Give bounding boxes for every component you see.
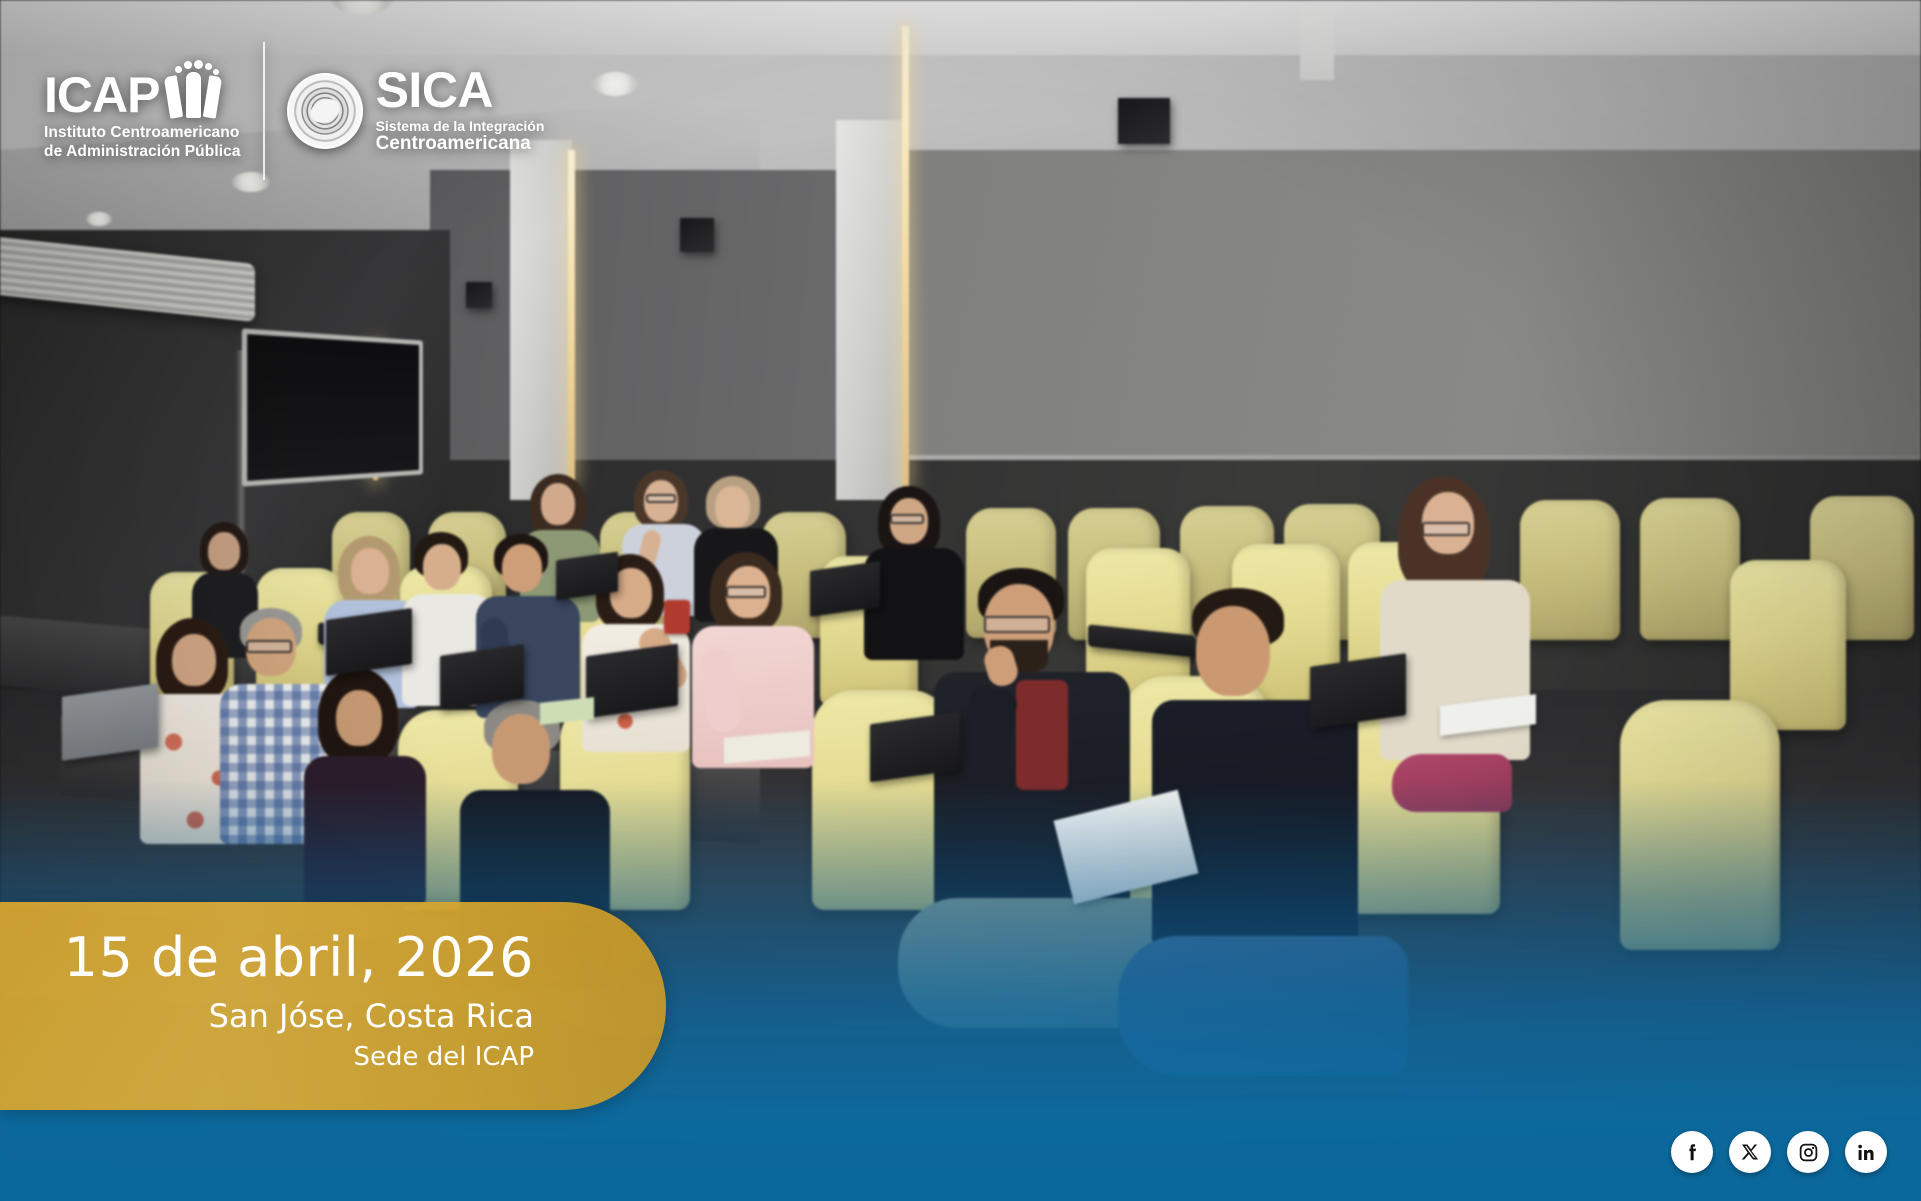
smartphone: [664, 600, 690, 634]
eyeglasses-icon: [726, 586, 766, 598]
icap-wordmark: ICAP: [44, 72, 159, 118]
icap-subtitle-line-2: de Administración Pública: [44, 143, 241, 162]
ceiling-light: [86, 212, 112, 226]
wall-speaker: [466, 282, 492, 308]
head: [715, 486, 750, 528]
event-date: 15 de abril, 2026: [64, 930, 534, 987]
vertical-divider-icon: [263, 42, 265, 180]
event-venue: Sede del ICAP: [353, 1042, 534, 1073]
x-twitter-icon[interactable]: [1729, 1131, 1771, 1173]
wall-column: [510, 140, 572, 500]
icap-logo: ICAP Instituto Centroamericano de Admini…: [44, 60, 241, 162]
auditorium-seat: [1520, 500, 1620, 640]
head: [423, 544, 461, 590]
eyeglasses-icon: [984, 616, 1050, 633]
laptop: [810, 561, 880, 617]
led-accent-strip: [568, 150, 575, 480]
acoustic-felt-wall: [860, 150, 1921, 490]
led-accent-strip: [902, 26, 909, 486]
laptop: [586, 644, 678, 719]
torso: [304, 756, 426, 906]
event-date-banner: 15 de abril, 2026 San Jóse, Costa Rica S…: [0, 902, 666, 1110]
promo-banner-stage: ICAP Instituto Centroamericano de Admini…: [0, 0, 1921, 1201]
head: [336, 690, 382, 746]
instagram-icon[interactable]: [1787, 1131, 1829, 1173]
wall-speaker: [680, 218, 714, 252]
head: [541, 483, 575, 525]
eyeglasses-icon: [1422, 522, 1470, 536]
facebook-icon[interactable]: [1671, 1131, 1713, 1173]
projection-screen: [242, 328, 423, 486]
wall-speaker: [1118, 98, 1170, 144]
event-city: San Jóse, Costa Rica: [209, 997, 534, 1035]
sica-logo: SICA Sistema de la Integración Centroame…: [287, 68, 545, 154]
head: [502, 544, 542, 592]
laptop: [62, 683, 158, 760]
linkedin-icon[interactable]: [1845, 1131, 1887, 1173]
eyeglasses-icon: [646, 494, 676, 503]
auditorium-seat: [1620, 700, 1780, 950]
raised-arms-figure-icon: [165, 60, 221, 118]
head: [351, 548, 389, 594]
sica-subtitle-line-1: Sistema de la Integración: [376, 118, 545, 134]
icap-subtitle: Instituto Centroamericano de Administrac…: [44, 124, 241, 162]
wall-column: [1300, 0, 1334, 80]
auditorium-seat: [1640, 498, 1740, 640]
social-links: [1671, 1131, 1887, 1173]
inner-shirt: [1016, 680, 1068, 790]
icap-subtitle-line-1: Instituto Centroamericano: [44, 124, 241, 143]
head: [208, 532, 240, 570]
eyeglasses-icon: [890, 514, 924, 524]
head: [172, 634, 216, 686]
logo-lockup: ICAP Instituto Centroamericano de Admini…: [44, 42, 544, 180]
eyeglasses-icon: [246, 640, 292, 653]
head: [1196, 606, 1270, 696]
sneaker: [1392, 754, 1512, 812]
ceiling-light: [592, 72, 638, 96]
sica-seal-icon: [287, 73, 363, 149]
sica-wordmark: SICA: [376, 68, 545, 113]
wall-column: [836, 120, 908, 500]
sica-subtitle-line-2: Centroamericana: [376, 134, 545, 154]
legs: [1118, 936, 1408, 1076]
